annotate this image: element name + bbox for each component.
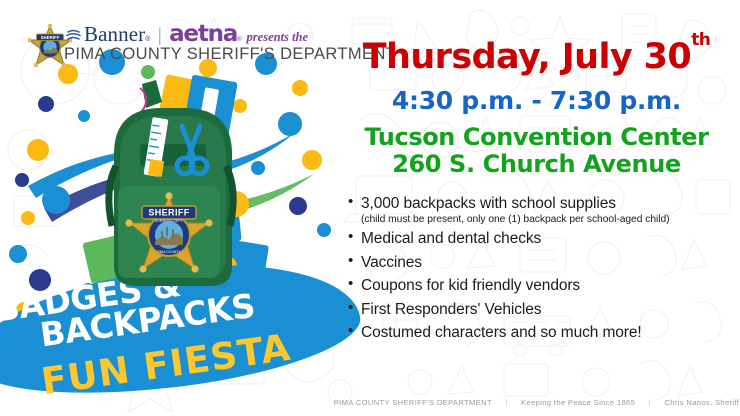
sponsor-banner-text: Banner [84,22,145,47]
badge-ring-top-text: SHERIFF'S DEPT. [155,219,183,223]
footer-motto: Keeping the Peace Since 1865 [521,398,635,407]
feature-text: Costumed characters and so much more! [361,324,642,341]
badge-ring-bottom-text: PIMA COUNTY [157,250,181,254]
footer-separator-1: | [505,398,507,407]
event-venue: Tucson Convention Center 260 S. Church A… [333,124,740,178]
footer-sheriff-name: Chris Nanos, Sheriff [664,398,739,407]
flyer-canvas: SHERIFF SHERIFF'S DEPT. PIMA COUNTY BADG… [0,0,740,416]
banner-wave-icon [66,28,82,43]
footer-separator-2: | [649,398,651,407]
feature-text: Medical and dental checks [361,230,541,247]
sponsor-lockup: Banner® | aetna® presents the [66,21,308,47]
event-date-text: Thursday, July 30 [363,37,691,77]
feature-text: First Responders' Vehicles [361,301,541,318]
list-item: First Responders' Vehicles [361,298,740,322]
badge-banner-text: SHERIFF [148,208,189,218]
feature-text: Coupons for kid friendly vendors [361,277,580,294]
flyer-header: SHERIFF Banner® | aetna® presents the PI… [0,8,345,70]
event-date: Thursday, July 30th [333,40,740,75]
banner-registered-mark: ® [145,36,150,43]
list-item: 3,000 backpacks with school supplies (ch… [361,192,740,227]
list-item: Medical and dental checks [361,227,740,251]
backpack-illustration: SHERIFF SHERIFF'S DEPT. PIMA COUNTY [100,78,250,308]
svg-text:SHERIFF: SHERIFF [41,35,60,40]
event-date-ordinal: th [691,30,710,50]
list-item: Costumed characters and so much more! [361,321,740,345]
feature-text: Vaccines [361,254,422,271]
venue-address: 260 S. Church Avenue [392,150,681,178]
sponsor-divider: | [157,25,162,46]
flyer-footer: PIMA COUNTY SHERIFF'S DEPARTMENT | Keepi… [333,398,740,407]
feature-text: 3,000 backpacks with school supplies [361,195,616,212]
venue-name: Tucson Convention Center [364,123,708,151]
event-details-column: Thursday, July 30th 4:30 p.m. - 7:30 p.m… [333,40,740,345]
list-item: Coupons for kid friendly vendors [361,274,740,298]
presents-the-text: presents the [247,30,308,45]
list-item: Vaccines [361,251,740,275]
feature-note: (child must be present, only one (1) bac… [361,214,740,227]
event-time: 4:30 p.m. - 7:30 p.m. [333,88,740,113]
sponsor-aetna-text: aetna [169,21,237,47]
features-list: 3,000 backpacks with school supplies (ch… [333,192,740,345]
footer-department: PIMA COUNTY SHERIFF'S DEPARTMENT [334,398,492,407]
aetna-registered-mark: ® [237,37,241,43]
